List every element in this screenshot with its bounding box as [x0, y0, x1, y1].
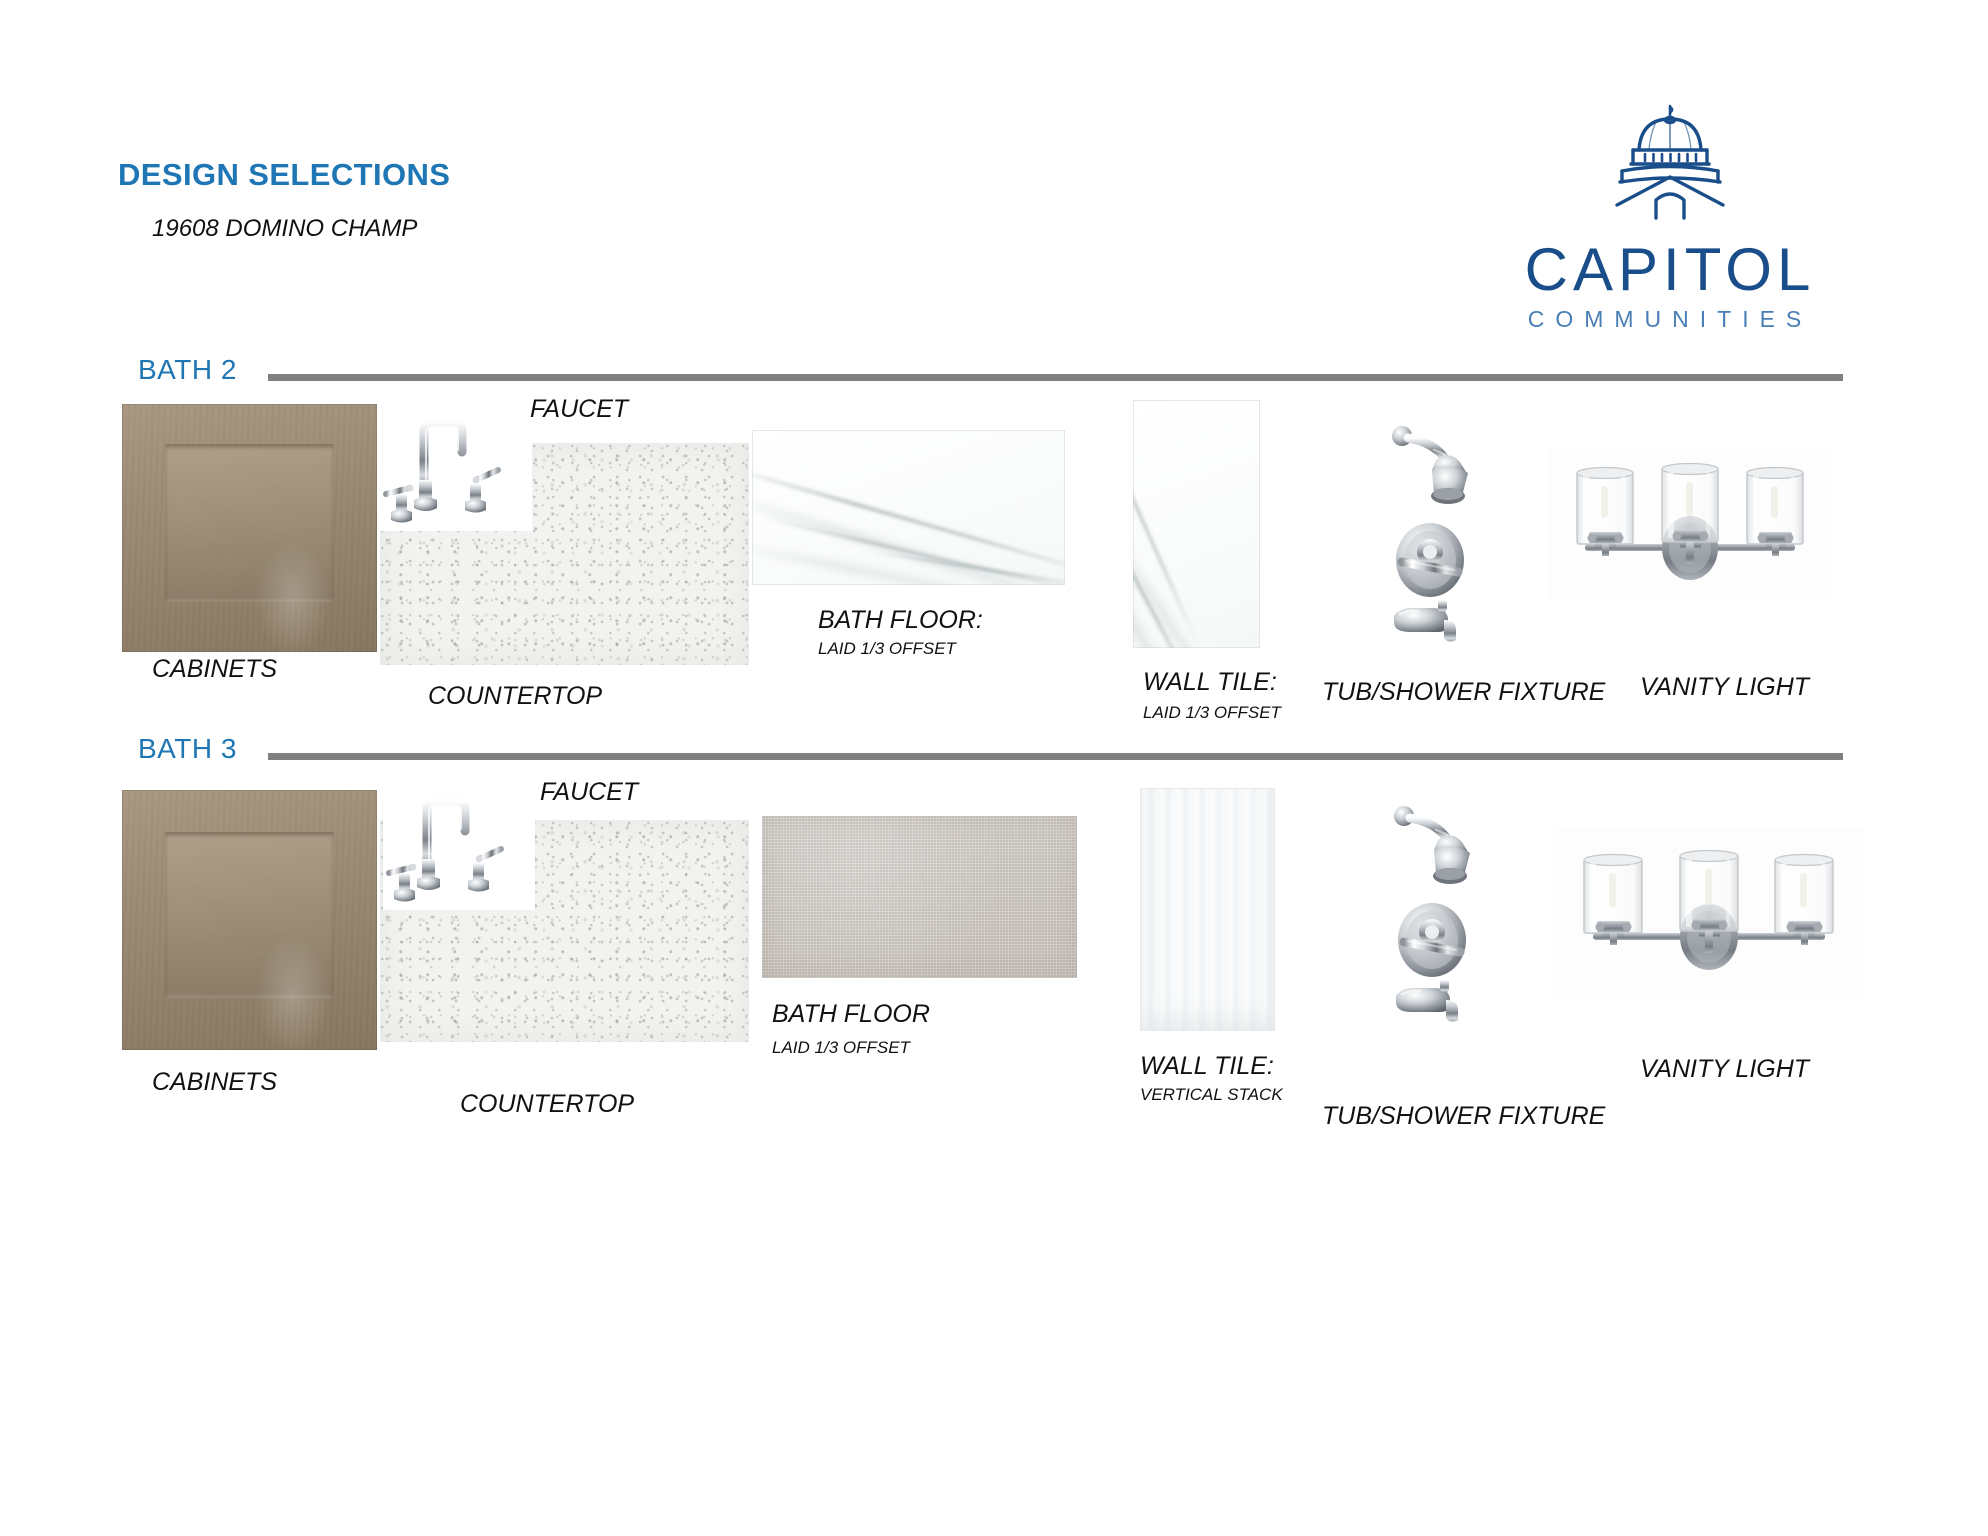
swatch-wall-tile-bath3 — [1140, 788, 1275, 1031]
cabinet-sheen — [255, 540, 332, 652]
capitol-communities-logo: CAPITOL COMMUNITIES — [1490, 100, 1850, 350]
section-rule-bath3 — [268, 753, 1843, 760]
faucet-icon — [380, 396, 532, 531]
caption-wall-tile-bath2: WALL TILE: — [1143, 668, 1277, 697]
capitol-dome-icon — [1570, 100, 1770, 235]
page-title: DESIGN SELECTIONS — [118, 157, 450, 193]
swatch-bath-floor-bath2 — [752, 430, 1065, 585]
swatch-cabinets-bath2 — [122, 404, 377, 652]
swatch-wall-tile-bath2 — [1133, 400, 1260, 648]
vanity-light-icon — [1553, 829, 1865, 994]
swatch-faucet-bath2 — [380, 396, 532, 531]
caption-wall-tile-sub-bath3: VERTICAL STACK — [1140, 1085, 1283, 1105]
caption-tub-shower-fixture-bath2: TUB/SHOWER FIXTURE — [1322, 678, 1605, 707]
caption-faucet-bath3: FAUCET — [540, 778, 638, 807]
swatch-faucet-bath3 — [383, 775, 535, 910]
caption-countertop-bath3: COUNTERTOP — [460, 1090, 634, 1119]
swatch-cabinets-bath3 — [122, 790, 377, 1050]
section-label-bath2: BATH 2 — [138, 354, 237, 386]
caption-vanity-light-bath2: VANITY LIGHT — [1640, 673, 1809, 702]
tub-shower-fixture-icon — [1370, 420, 1530, 650]
caption-bath-floor-bath3: BATH FLOOR — [772, 1000, 930, 1029]
logo-subword: COMMUNITIES — [1490, 308, 1850, 331]
section-label-bath3: BATH 3 — [138, 733, 237, 765]
vanity-light-icon — [1549, 448, 1831, 600]
caption-cabinets-bath3: CABINETS — [152, 1068, 277, 1097]
cabinet-sheen — [255, 933, 332, 1050]
caption-bath-floor-sub-bath2: LAID 1/3 OFFSET — [818, 639, 956, 659]
caption-wall-tile-sub-bath2: LAID 1/3 OFFSET — [1143, 703, 1281, 723]
swatch-tub-shower-fixture-bath2 — [1370, 420, 1530, 650]
section-header-bath3: BATH 3 — [138, 731, 1848, 775]
section-rule-bath2 — [268, 374, 1843, 381]
tub-shower-fixture-icon — [1372, 800, 1532, 1030]
caption-bath-floor-bath2: BATH FLOOR: — [818, 606, 983, 635]
caption-faucet-bath2: FAUCET — [530, 395, 628, 424]
logo-wordmark: CAPITOL — [1490, 240, 1850, 300]
page-subtitle: 19608 DOMINO CHAMP — [152, 215, 417, 243]
caption-countertop-bath2: COUNTERTOP — [428, 682, 602, 711]
design-selections-page: DESIGN SELECTIONS 19608 DOMINO CHAMP — [0, 0, 1988, 1536]
marble-vein — [752, 488, 1065, 585]
caption-bath-floor-sub-bath3: LAID 1/3 OFFSET — [772, 1038, 910, 1058]
swatch-bath-floor-bath3 — [762, 816, 1077, 978]
marble-vein — [1133, 532, 1233, 648]
caption-vanity-light-bath3: VANITY LIGHT — [1640, 1055, 1809, 1084]
swatch-vanity-light-bath2 — [1549, 448, 1831, 600]
faucet-icon — [383, 775, 535, 910]
caption-tub-shower-fixture-bath3: TUB/SHOWER FIXTURE — [1322, 1102, 1605, 1131]
section-header-bath2: BATH 2 — [138, 352, 1848, 396]
swatch-vanity-light-bath3 — [1553, 829, 1865, 994]
caption-wall-tile-bath3: WALL TILE: — [1140, 1052, 1274, 1081]
caption-cabinets-bath2: CABINETS — [152, 655, 277, 684]
swatch-tub-shower-fixture-bath3 — [1372, 800, 1532, 1030]
